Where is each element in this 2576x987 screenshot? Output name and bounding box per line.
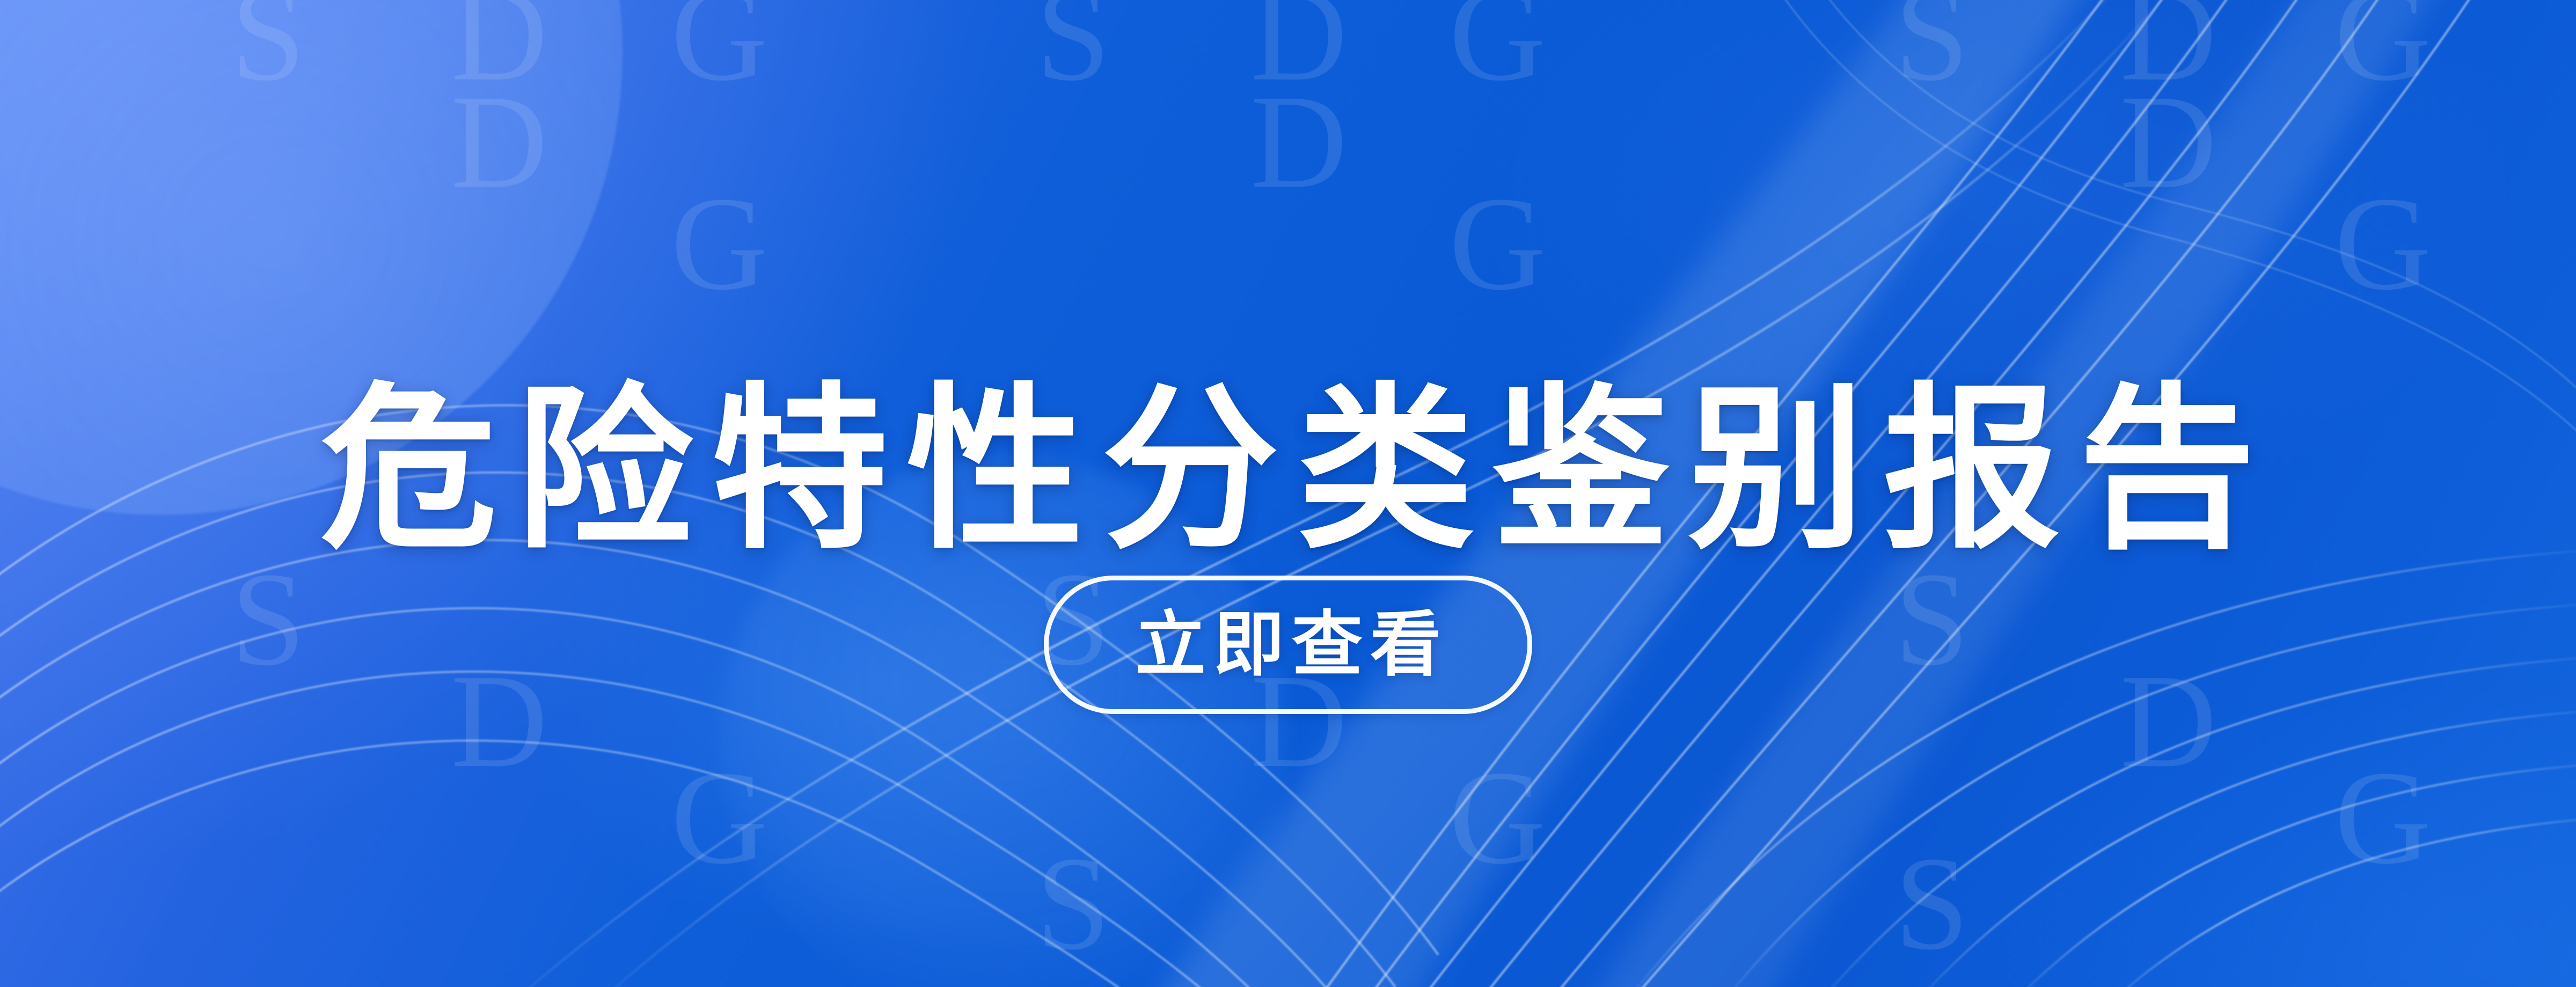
- banner-content: 危险特性分类鉴别报告 立即查看: [0, 0, 2576, 987]
- promo-banner: SDGSDGSDGDDDGGGSSSDDDGGGSS: [0, 0, 2576, 987]
- page-title: 危险特性分类鉴别报告: [0, 371, 2576, 569]
- cta-container: 立即查看: [0, 576, 2576, 714]
- view-now-button-label: 立即查看: [1128, 609, 1448, 680]
- view-now-button[interactable]: 立即查看: [1044, 576, 1532, 714]
